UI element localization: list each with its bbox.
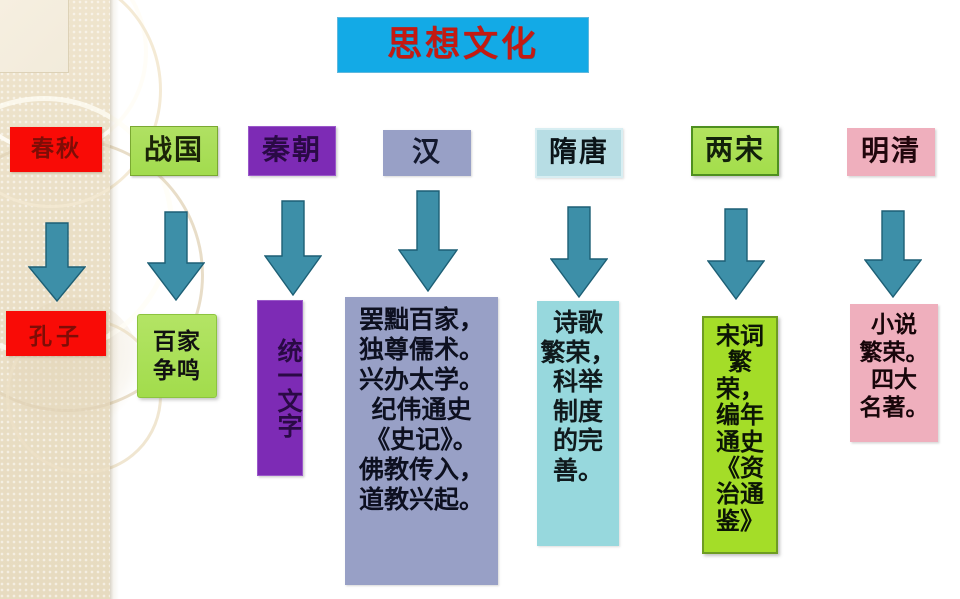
down-arrow-icon-suitang (550, 206, 608, 298)
slide-title: 思想文化 (337, 17, 589, 73)
era-label-qinchao: 秦朝 (248, 126, 336, 176)
content-box-mingqing: 小说繁荣。四大名著。 (850, 304, 938, 442)
era-label-suitang: 隋唐 (535, 128, 623, 178)
content-box-zhanguo: 百家争鸣 (137, 314, 217, 398)
content-box-chunqiu: 孔子 (6, 311, 106, 356)
era-label-mingqing: 明清 (847, 128, 935, 176)
content-box-han: 罢黜百家，独尊儒术。兴办太学。纪伟通史《史记》。佛教传入，道教兴起。 (345, 297, 498, 585)
content-box-suitang: 诗歌繁荣，科举制度的完善。 (537, 301, 619, 546)
down-arrow-icon-chunqiu (28, 222, 86, 302)
down-arrow-icon-qinchao (264, 200, 322, 296)
slide-canvas: 思想文化 春秋 战国 秦朝 汉 隋唐 两宋 明清 孔子 百家争鸣 统一文字 罢黜… (0, 0, 960, 599)
down-arrow-icon-zhanguo (147, 211, 205, 301)
content-text-mingqing: 小说繁荣。四大名著。 (853, 311, 935, 421)
decorative-band-shadow (110, 0, 119, 599)
era-label-zhanguo: 战国 (130, 126, 218, 176)
era-label-han: 汉 (383, 130, 471, 176)
down-arrow-icon-liangsong (707, 208, 765, 300)
era-label-chunqiu: 春秋 (10, 127, 102, 172)
content-text-suitang: 诗歌繁荣，科举制度的完善。 (540, 309, 616, 486)
content-text-zhanguo: 百家争鸣 (138, 327, 216, 386)
content-box-qinchao: 统一文字 (257, 300, 303, 476)
content-box-liangsong: 宋词繁荣，编年通史《资治通鉴》 (702, 316, 778, 554)
era-label-liangsong: 两宋 (691, 126, 779, 176)
content-text-han: 罢黜百家，独尊儒术。兴办太学。纪伟通史《史记》。佛教传入，道教兴起。 (349, 306, 494, 516)
content-text-qinchao: 统一文字 (258, 338, 302, 438)
down-arrow-icon-mingqing (864, 210, 922, 298)
down-arrow-icon-han (398, 190, 458, 292)
content-text-chunqiu: 孔子 (6, 317, 106, 351)
content-text-liangsong: 宋词繁荣，编年通史《资治通鉴》 (706, 324, 774, 535)
decorative-corner-plate (0, 0, 69, 73)
